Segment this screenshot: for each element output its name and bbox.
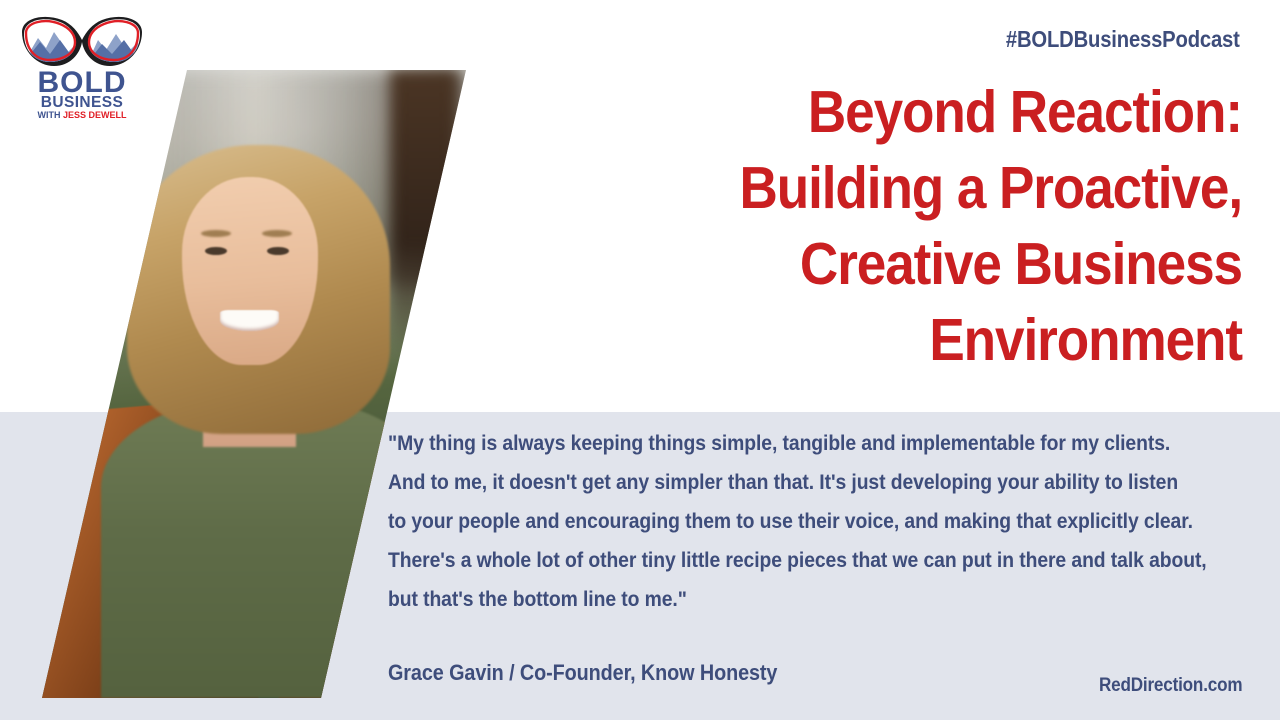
- bold-business-logo[interactable]: BOLD BUSINESS WITH JESS DEWELL: [14, 8, 150, 120]
- podcast-episode-graphic: BOLD BUSINESS WITH JESS DEWELL #BOLDBusi…: [0, 0, 1280, 720]
- website-label[interactable]: RedDirection.com: [1099, 675, 1242, 697]
- title-line-1: Beyond Reaction:: [576, 74, 1242, 150]
- logo-tagline-text: WITH JESS DEWELL: [37, 110, 127, 120]
- photo-dark-post-blur: [390, 70, 458, 359]
- quote-line-2: And to me, it doesn't get any simpler th…: [388, 463, 1158, 502]
- quote-line-1: "My thing is always keeping things simpl…: [388, 424, 1158, 463]
- hashtag-label: #BOLDBusinessPodcast: [1006, 26, 1240, 53]
- glasses-icon: [22, 16, 142, 66]
- logo-business-text: BUSINESS: [41, 94, 123, 111]
- eyebrow-left: [201, 230, 231, 237]
- title-line-2: Building a Proactive,: [576, 150, 1242, 226]
- title-line-3: Creative Business: [576, 226, 1242, 302]
- face: [182, 177, 318, 365]
- quote-line-3: to your people and encouraging them to u…: [388, 502, 1158, 541]
- quote-line-5: but that's the bottom line to me.": [388, 580, 1158, 619]
- logo-artwork: BOLD BUSINESS WITH JESS DEWELL: [14, 8, 150, 120]
- quote-line-4: There's a whole lot of other tiny little…: [388, 541, 1158, 580]
- episode-title: Beyond Reaction: Building a Proactive, C…: [502, 74, 1242, 378]
- title-line-4: Environment: [576, 302, 1242, 378]
- quote-attribution: Grace Gavin / Co-Founder, Know Honesty: [388, 660, 777, 686]
- guest-quote: "My thing is always keeping things simpl…: [388, 424, 1244, 619]
